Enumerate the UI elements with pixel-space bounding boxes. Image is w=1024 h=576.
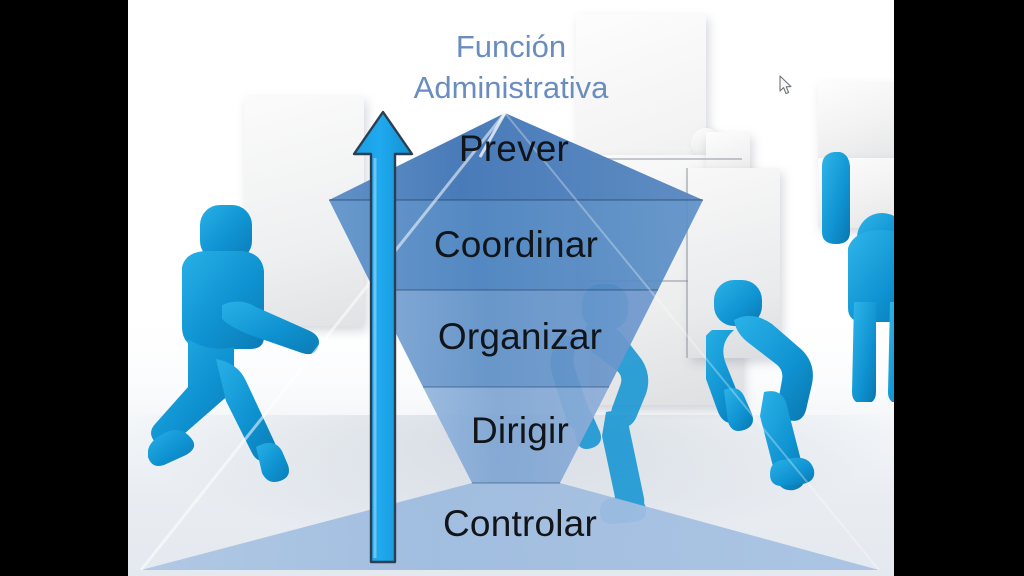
video-frame: Función Administrativa: [0, 0, 1024, 576]
mouse-pointer-icon: [779, 75, 793, 95]
letterbox-right: [894, 0, 1024, 576]
pyramid-level-3-text: Organizar: [438, 316, 602, 357]
pyramid-level-1-text: Prever: [459, 128, 569, 169]
pyramid-level-5-text: Controlar: [443, 503, 597, 544]
pyramid-level-1-label: Prever: [414, 128, 614, 170]
page-title: Función Administrativa: [128, 26, 894, 108]
figure-arms-raised-right: [818, 152, 894, 402]
figure-pushing-left: [148, 195, 338, 505]
pyramid-level-4-text: Dirigir: [471, 410, 569, 451]
upward-growth-arrow-icon: [351, 110, 415, 565]
page-title-line1: Función: [456, 29, 566, 64]
letterbox-left: [0, 0, 128, 576]
pyramid-level-2-text: Coordinar: [434, 224, 598, 265]
